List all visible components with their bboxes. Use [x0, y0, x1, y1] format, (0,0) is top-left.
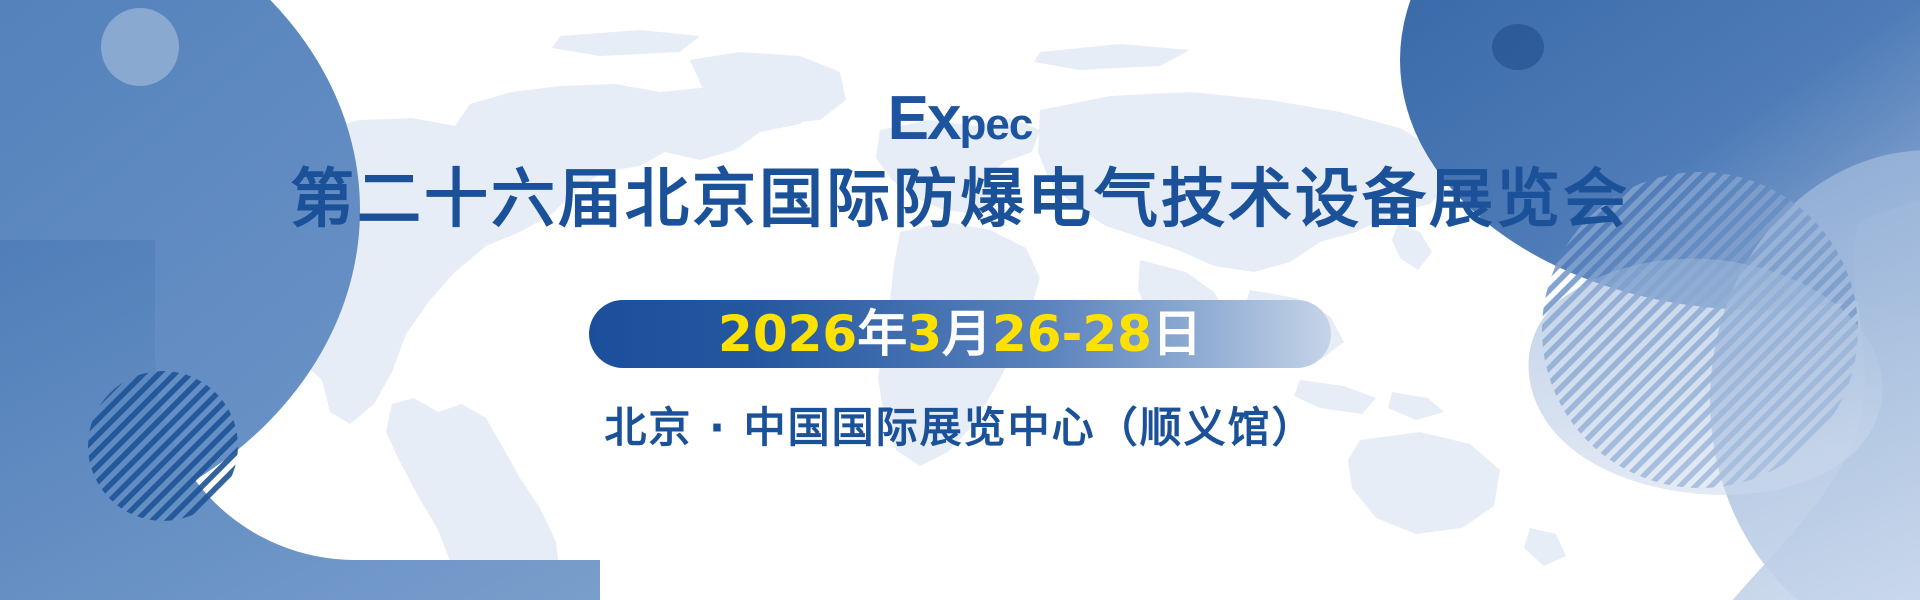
date-month-unit: 月	[942, 305, 992, 363]
top-right-dark-dot	[1492, 24, 1544, 70]
date-days: 26-28	[992, 305, 1152, 363]
venue-text: 北京 · 中国国际展览中心（顺义馆）	[604, 394, 1315, 455]
logo-suffix: pec	[960, 100, 1033, 149]
date-year: 2026	[718, 305, 857, 363]
top-left-light-circle	[101, 8, 179, 86]
logo-prefix: Ex	[888, 84, 960, 153]
expo-banner: Expec 第二十六届北京国际防爆电气技术设备展览会 2026年3月26-28日…	[0, 0, 1920, 600]
date-badge: 2026年3月26-28日	[589, 300, 1331, 368]
page-title: 第二十六届北京国际防爆电气技术设备展览会	[290, 166, 1630, 235]
date-day-unit: 日	[1152, 305, 1202, 363]
expec-logo: Expec	[888, 88, 1033, 150]
date-year-unit: 年	[857, 305, 907, 363]
date-text: 2026年3月26-28日	[718, 309, 1202, 359]
date-month: 3	[907, 305, 942, 363]
